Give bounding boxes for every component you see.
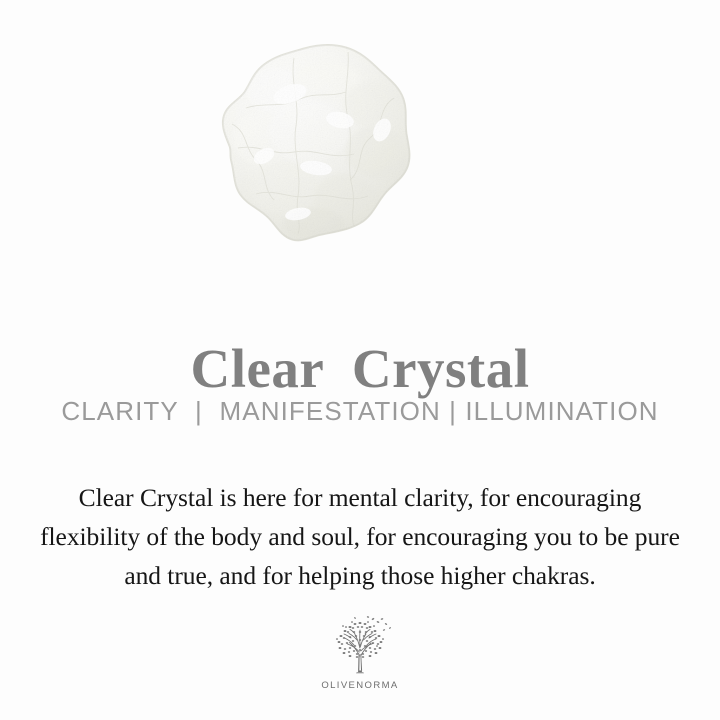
product-image-container [0, 0, 720, 280]
brand-logo: OLIVENORMA [0, 614, 720, 692]
brand-name: OLIVENORMA [321, 680, 398, 692]
page-title: Clear Crystal [0, 337, 720, 401]
clear-quartz-crystal-image [198, 28, 430, 264]
product-info-card: Clear Crystal CLARITY | MANIFESTATION | … [0, 0, 720, 720]
tree-icon [324, 614, 396, 676]
keyword-subtitle: CLARITY | MANIFESTATION | ILLUMINATION [0, 395, 720, 427]
product-description: Clear Crystal is here for mental clarity… [38, 478, 682, 595]
